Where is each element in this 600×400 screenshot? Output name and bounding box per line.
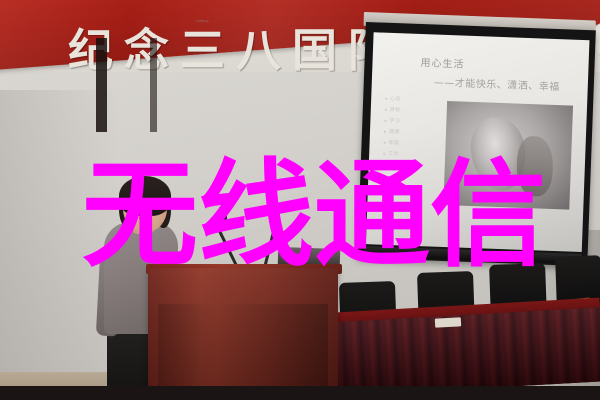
bullet-dot-icon <box>385 97 387 99</box>
bullet-dot-icon <box>385 108 387 110</box>
podium-seam-left <box>96 38 107 132</box>
list-item: 心态 <box>385 95 441 104</box>
slide-bullet-label: 心态 <box>390 95 401 102</box>
slide-bullet-label: 学习 <box>389 117 400 124</box>
list-item: 健康 <box>384 128 440 137</box>
slide-bullet-label: 目标 <box>390 106 401 113</box>
list-item: 家庭 <box>383 139 439 148</box>
floor-shadow-strip <box>0 386 600 400</box>
list-item: 目标 <box>385 106 441 115</box>
watermark-text: 无线通信 <box>82 158 546 274</box>
paper-on-table <box>435 317 461 327</box>
slide-bullet-label: 健康 <box>389 128 400 135</box>
slide-title: 用心生活 <box>420 54 465 71</box>
bullet-dot-icon <box>384 141 386 143</box>
screenshot-root: 纪念三八国际 10 用心生活 ——才能快乐、潇洒、幸福 心态 目标 学习 <box>0 0 600 400</box>
banner-title-text: 纪念三八国际 <box>68 14 404 79</box>
list-item: 学习 <box>384 117 440 126</box>
slide-bullet-label: 家庭 <box>388 139 399 146</box>
bullet-dot-icon <box>384 119 386 121</box>
podium-shading <box>148 268 338 400</box>
screen-brand-label: Lumina <box>196 19 209 23</box>
bullet-dot-icon <box>384 130 386 132</box>
podium-seam-right <box>150 38 157 132</box>
slide-subtitle: ——才能快乐、潇洒、幸福 <box>434 74 560 94</box>
